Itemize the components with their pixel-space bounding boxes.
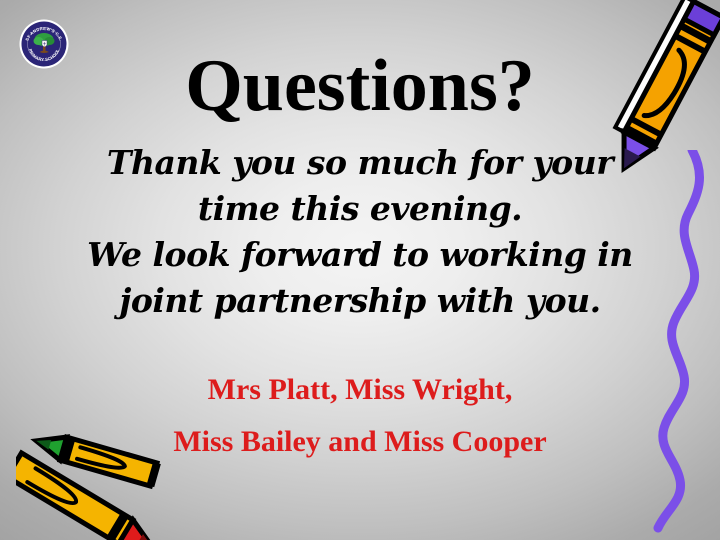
staff-names: Mrs Platt, Miss Wright, Miss Bailey and … <box>30 364 690 468</box>
thank-you-paragraph: Thank you so much for your time this eve… <box>12 140 708 232</box>
body-line-3: We look forward to working in <box>12 232 708 278</box>
body-line-1: Thank you so much for your <box>12 140 708 186</box>
partnership-paragraph: We look forward to working in joint part… <box>12 232 708 324</box>
staff-names-line-2: Miss Bailey and Miss Cooper <box>30 416 690 468</box>
body-line-2: time this evening. <box>12 186 708 232</box>
presentation-slide: ST ANDREW'S C.E. PRIMARY SCHOOL Question… <box>0 0 720 540</box>
body-line-4: joint partnership with you. <box>12 278 708 324</box>
slide-title: Questions? <box>0 46 720 126</box>
staff-names-line-1: Mrs Platt, Miss Wright, <box>30 364 690 416</box>
